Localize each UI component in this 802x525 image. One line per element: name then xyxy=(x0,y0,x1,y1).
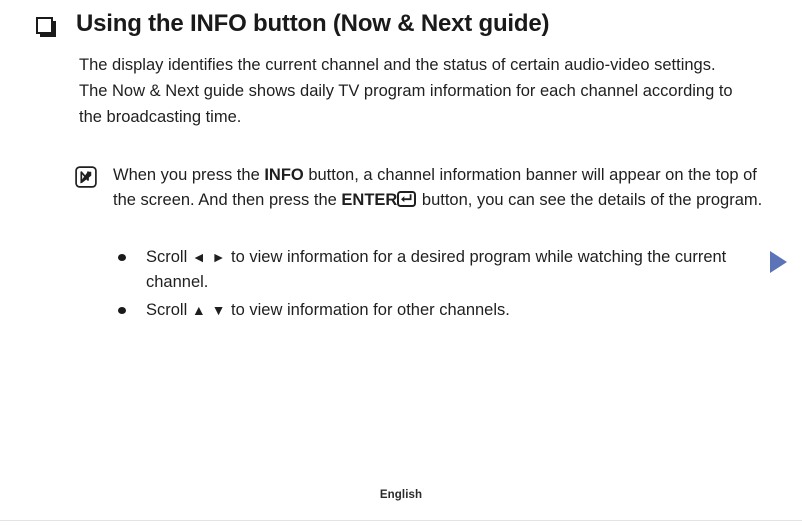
enter-return-icon xyxy=(397,190,416,206)
round-bullet-icon xyxy=(118,254,126,261)
list-item: Scroll ▲ ▼ to view information for other… xyxy=(118,298,763,323)
list-item-prefix: Scroll xyxy=(146,248,192,266)
list-item-text: Scroll ▲ ▼ to view information for other… xyxy=(146,298,763,323)
note-emphasis-info: INFO xyxy=(264,166,303,184)
round-bullet-icon xyxy=(118,307,126,314)
list-item: Scroll ◄ ► to view information for a des… xyxy=(118,245,763,294)
note-callout: When you press the INFO button, a channe… xyxy=(75,163,765,212)
list-item-suffix: to view information for other channels. xyxy=(226,301,509,319)
note-emphasis-enter: ENTER xyxy=(341,191,397,209)
instruction-list: Scroll ◄ ► to view information for a des… xyxy=(118,245,763,327)
arrow-left-right-icons: ◄ ► xyxy=(192,249,227,265)
square-bullet-icon xyxy=(36,17,56,37)
note-pencil-icon xyxy=(75,166,97,188)
page-title-text: Using the INFO button (Now & Next guide) xyxy=(76,10,549,39)
footer-language-label: English xyxy=(0,489,802,501)
page-title: Using the INFO button (Now & Next guide) xyxy=(36,10,762,39)
note-text-segment-3: button, you can see the details of the p… xyxy=(417,191,762,209)
body-paragraph-2: The Now & Next guide shows daily TV prog… xyxy=(79,78,739,130)
list-item-text: Scroll ◄ ► to view information for a des… xyxy=(146,245,763,294)
intro-body: The display identifies the current chann… xyxy=(79,52,739,130)
list-item-suffix: to view information for a desired progra… xyxy=(146,248,726,291)
page-footer: English xyxy=(0,489,802,525)
note-text: When you press the INFO button, a channe… xyxy=(113,163,765,212)
list-item-prefix: Scroll xyxy=(146,301,192,319)
arrow-up-down-icons: ▲ ▼ xyxy=(192,302,227,318)
footer-divider xyxy=(0,520,802,521)
next-page-arrow-icon[interactable] xyxy=(770,251,787,273)
body-paragraph-1: The display identifies the current chann… xyxy=(79,52,739,78)
note-text-segment-1: When you press the xyxy=(113,166,264,184)
document-page: Using the INFO button (Now & Next guide)… xyxy=(0,0,802,525)
